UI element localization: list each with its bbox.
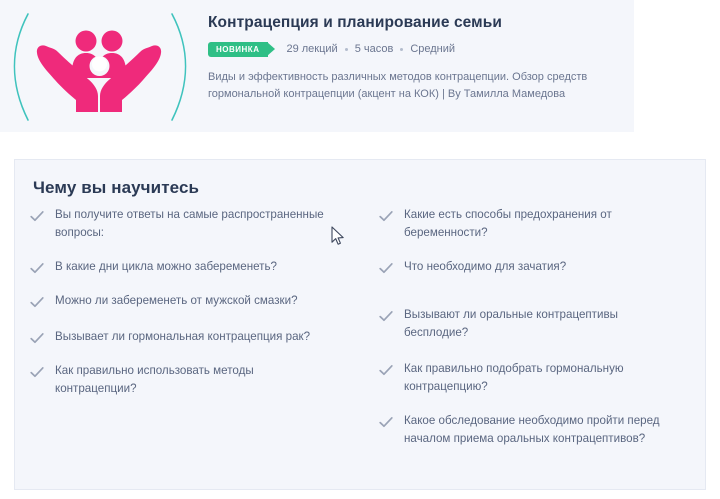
learn-column-right: Какие есть способы предохранения от бере… bbox=[362, 206, 695, 464]
check-icon bbox=[29, 330, 45, 346]
learn-columns: Вы получите ответы на самые распростране… bbox=[15, 206, 705, 464]
meta-separator-dot bbox=[400, 48, 403, 51]
list-item-text: Вызывают ли оральные контрацептивы беспл… bbox=[404, 306, 676, 342]
check-icon bbox=[29, 260, 45, 276]
list-item: Вы получите ответы на самые распростране… bbox=[29, 206, 352, 242]
meta-level: Средний bbox=[410, 43, 455, 55]
list-item-text: Вы получите ответы на самые распростране… bbox=[55, 206, 327, 242]
list-item: Как правильно использовать методы контра… bbox=[29, 362, 352, 398]
meta-lectures: 29 лекций bbox=[286, 43, 337, 55]
list-item-text: Как правильно использовать методы контра… bbox=[55, 362, 327, 398]
check-icon bbox=[378, 362, 394, 378]
check-icon bbox=[378, 260, 394, 276]
list-item: Какое обследование необходимо пройти пер… bbox=[378, 412, 695, 448]
list-item: Вызывают ли оральные контрацептивы беспл… bbox=[378, 306, 695, 342]
list-item-text: В какие дни цикла можно забеременеть? bbox=[55, 258, 277, 276]
check-icon bbox=[29, 364, 45, 380]
list-item: В какие дни цикла можно забеременеть? bbox=[29, 258, 352, 276]
hands-holding-family-icon bbox=[0, 0, 200, 132]
list-item-text: Можно ли забеременеть от мужской смазки? bbox=[55, 292, 298, 310]
learn-column-left: Вы получите ответы на самые распростране… bbox=[29, 206, 362, 464]
list-item-text: Какие есть способы предохранения от бере… bbox=[404, 206, 676, 242]
status-badge-new: НОВИНКА bbox=[208, 42, 268, 57]
check-icon bbox=[378, 308, 394, 324]
course-description: Виды и эффективность различных методов к… bbox=[208, 69, 620, 103]
page-root: Контрацепция и планирование семьи НОВИНК… bbox=[0, 0, 720, 499]
list-item: Как правильно подобрать гормональную кон… bbox=[378, 360, 695, 396]
list-item: Вызывает ли гормональная контрацепция ра… bbox=[29, 328, 352, 346]
list-item-text: Как правильно подобрать гормональную кон… bbox=[404, 360, 676, 396]
check-icon bbox=[29, 208, 45, 224]
course-meta-row: НОВИНКА 29 лекций 5 часов Средний bbox=[208, 41, 624, 58]
course-header-body: Контрацепция и планирование семьи НОВИНК… bbox=[200, 0, 634, 103]
check-icon bbox=[378, 208, 394, 224]
list-item: Что необходимо для зачатия? bbox=[378, 258, 695, 276]
meta-separator-dot bbox=[345, 48, 348, 51]
list-item: Можно ли забеременеть от мужской смазки? bbox=[29, 292, 352, 310]
list-item-text: Вызывает ли гормональная контрацепция ра… bbox=[55, 328, 310, 346]
check-icon bbox=[378, 414, 394, 430]
course-title: Контрацепция и планирование семьи bbox=[208, 14, 624, 33]
course-header-card: Контрацепция и планирование семьи НОВИНК… bbox=[0, 0, 634, 132]
list-item-text: Какое обследование необходимо пройти пер… bbox=[404, 412, 676, 448]
check-icon bbox=[29, 294, 45, 310]
list-item: Какие есть способы предохранения от бере… bbox=[378, 206, 695, 242]
list-item-text: Что необходимо для зачатия? bbox=[404, 258, 566, 276]
what-you-will-learn-card: Чему вы научитесь Вы получите ответы на … bbox=[14, 159, 706, 490]
course-meta-items: 29 лекций 5 часов Средний bbox=[286, 43, 455, 55]
course-artwork bbox=[0, 0, 200, 132]
meta-duration: 5 часов bbox=[355, 43, 394, 55]
section-title: Чему вы научитесь bbox=[33, 178, 705, 198]
